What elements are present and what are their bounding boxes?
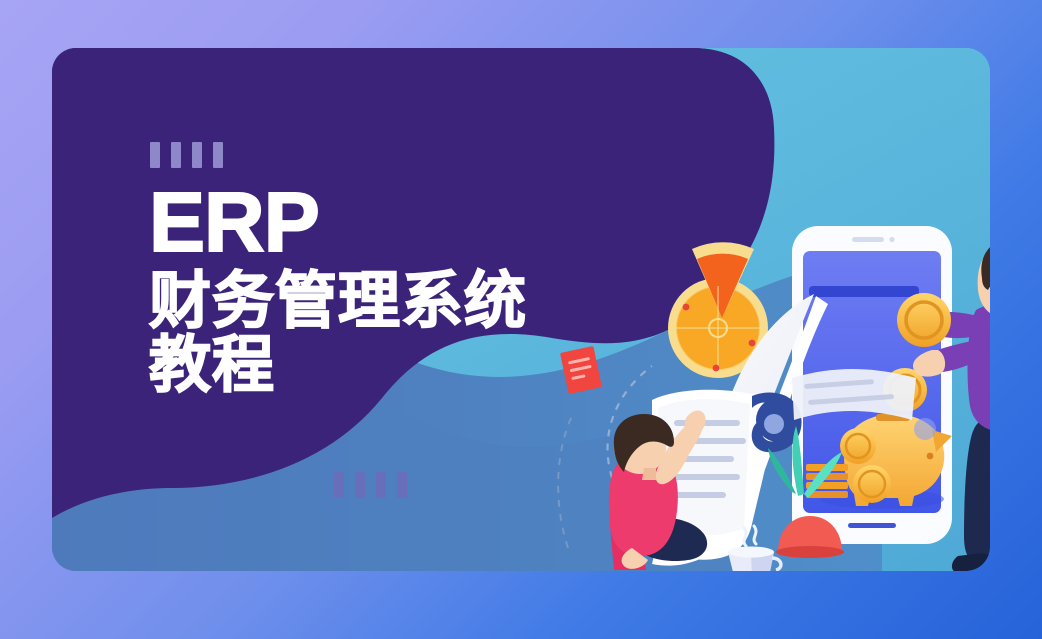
title-erp: ERP	[149, 184, 527, 261]
title-chinese-line-2: 教程	[149, 333, 527, 397]
headline-block: ERP 财务管理系统 教程	[149, 184, 527, 397]
poster-canvas: ERP 财务管理系统 教程	[0, 0, 1042, 639]
coin-icon	[897, 293, 951, 347]
title-chinese: 财务管理系统 教程	[149, 269, 527, 397]
chart-marker-dot	[713, 365, 720, 372]
bubble-dot	[914, 418, 936, 440]
poster-card: ERP 财务管理系统 教程	[52, 48, 990, 571]
chart-marker-dot	[683, 304, 690, 311]
dotted-path-icon	[558, 416, 572, 548]
red-note-icon	[560, 346, 602, 394]
coin-icon	[840, 428, 876, 464]
title-chinese-line-1: 财务管理系统	[149, 269, 527, 333]
chart-marker-dot	[749, 340, 756, 347]
